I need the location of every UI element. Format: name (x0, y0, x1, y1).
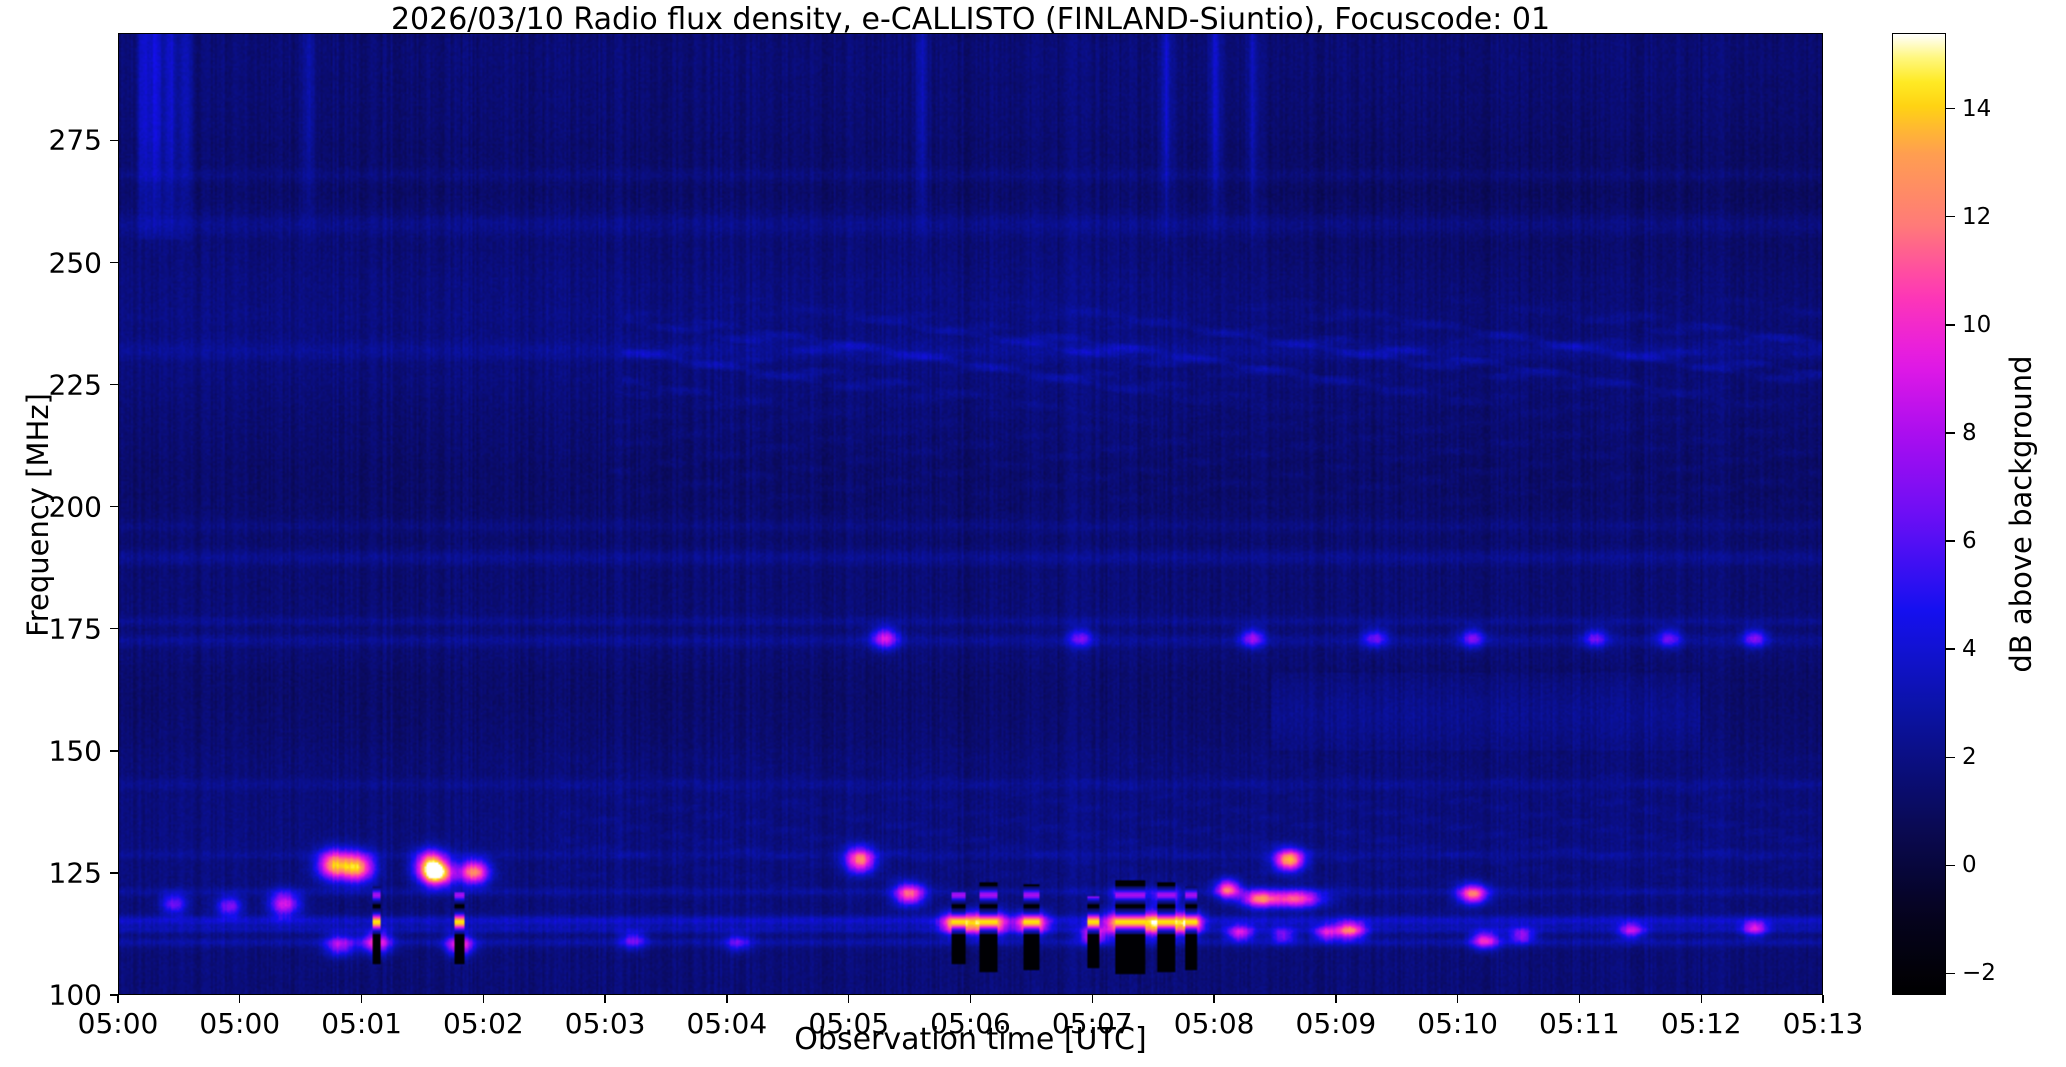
x-tick-mark (1822, 995, 1823, 1003)
colorbar-tick-mark (1946, 108, 1955, 109)
colorbar-tick-label: 0 (1962, 852, 1977, 878)
x-tick-mark (361, 995, 362, 1003)
x-tick-mark (483, 995, 484, 1003)
figure-canvas: 2026/03/10 Radio flux density, e-CALLIST… (0, 0, 2066, 1067)
y-tick-mark (110, 262, 118, 263)
x-tick-mark (970, 995, 971, 1003)
x-tick-mark (1457, 995, 1458, 1003)
spectrogram-image (119, 34, 1822, 994)
x-tick-mark (1579, 995, 1580, 1003)
y-tick-label: 175 (49, 612, 102, 645)
colorbar-tick-mark (1946, 324, 1955, 325)
colorbar-tick-label: 10 (1962, 312, 1991, 338)
x-tick-mark (1092, 995, 1093, 1003)
y-tick-mark (110, 384, 118, 385)
colorbar-tick-mark (1946, 216, 1955, 217)
y-axis-label: Frequency [MHz] (21, 365, 55, 665)
colorbar-tick-label: 4 (1962, 636, 1977, 662)
colorbar-tick-mark (1946, 648, 1955, 649)
colorbar-tick-mark (1946, 865, 1955, 866)
y-tick-mark (110, 872, 118, 873)
y-tick-label: 250 (49, 246, 102, 279)
x-tick-mark (117, 995, 118, 1003)
spectrogram-plot-area[interactable] (118, 33, 1823, 995)
colorbar-tick-mark (1946, 432, 1955, 433)
colorbar-tick-mark (1946, 540, 1955, 541)
colorbar-tick-label: 6 (1962, 528, 1977, 554)
colorbar-tick-mark (1946, 973, 1955, 974)
y-tick-label: 200 (49, 490, 102, 523)
colorbar-tick-label: −2 (1962, 960, 1996, 986)
y-tick-label: 275 (49, 124, 102, 157)
x-tick-mark (604, 995, 605, 1003)
colorbar-tick-label: 8 (1962, 420, 1977, 446)
y-tick-mark (110, 750, 118, 751)
x-tick-mark (239, 995, 240, 1003)
x-tick-mark (726, 995, 727, 1003)
y-tick-label: 225 (49, 368, 102, 401)
y-tick-mark (110, 506, 118, 507)
y-tick-mark (110, 140, 118, 141)
y-tick-label: 150 (49, 734, 102, 767)
colorbar-tick-label: 12 (1962, 204, 1991, 230)
y-tick-label: 125 (49, 856, 102, 889)
y-tick-mark (110, 628, 118, 629)
colorbar-tick-label: 2 (1962, 744, 1977, 770)
colorbar-gradient (1893, 34, 1945, 994)
colorbar-tick-mark (1946, 757, 1955, 758)
x-tick-mark (1213, 995, 1214, 1003)
colorbar[interactable] (1892, 33, 1946, 995)
x-tick-mark (1335, 995, 1336, 1003)
page-title: 2026/03/10 Radio flux density, e-CALLIST… (118, 2, 1823, 37)
colorbar-tick-label: 14 (1962, 96, 1991, 122)
x-tick-mark (848, 995, 849, 1003)
colorbar-label: dB above background (2004, 304, 2038, 724)
x-axis-label: Observation time [UTC] (118, 1022, 1823, 1057)
x-tick-mark (1701, 995, 1702, 1003)
